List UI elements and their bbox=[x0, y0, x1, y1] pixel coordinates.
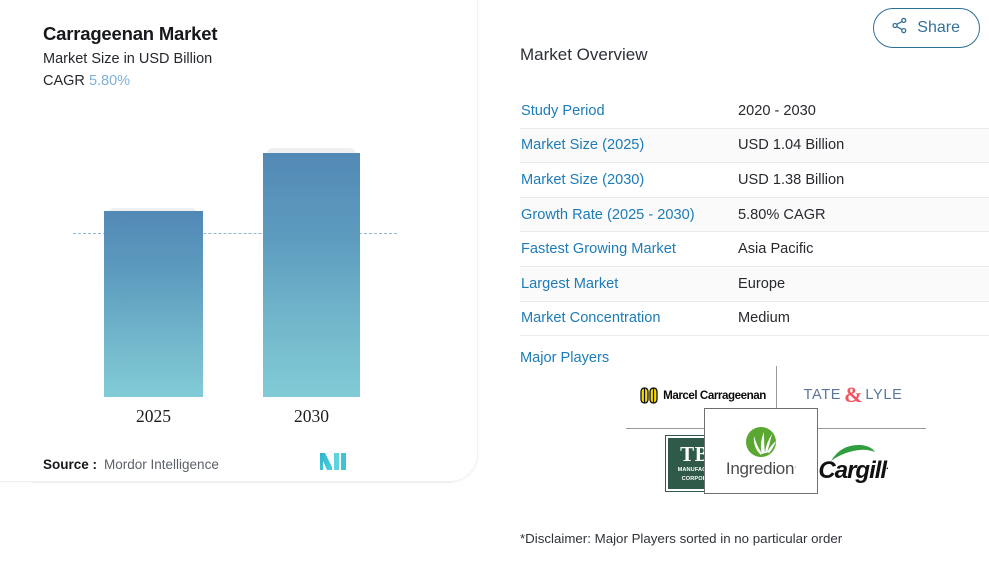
chart-source-row: Source : Mordor Intelligence bbox=[43, 453, 447, 475]
cargill-logo: Cargill. bbox=[818, 443, 887, 483]
market-overview-table: Study Period 2020 - 2030 Market Size (20… bbox=[520, 94, 989, 336]
marcel-shield-icon bbox=[640, 387, 658, 404]
x-axis-label-2030: 2030 bbox=[263, 406, 360, 427]
row-value: 5.80% CAGR bbox=[738, 207, 826, 223]
bar-2030 bbox=[263, 153, 360, 397]
table-row: Market Size (2025) USD 1.04 Billion bbox=[520, 129, 989, 164]
card-divider bbox=[33, 482, 453, 483]
table-row: Largest Market Europe bbox=[520, 267, 989, 302]
chart-cagr: CAGR 5.80% bbox=[43, 73, 130, 89]
source-name: Mordor Intelligence bbox=[104, 457, 219, 472]
row-key: Largest Market bbox=[520, 276, 738, 292]
market-overview-panel: Share Market Overview Study Period 2020 … bbox=[518, 0, 989, 564]
cagr-value: 5.80% bbox=[89, 73, 130, 89]
ingredion-logo: Ingredion. bbox=[726, 424, 796, 479]
lyle-word: LYLE bbox=[865, 387, 902, 403]
player-logo-ingredion: Ingredion. bbox=[704, 408, 818, 494]
row-value: 2020 - 2030 bbox=[738, 103, 816, 119]
major-players-label: Major Players bbox=[520, 350, 609, 366]
row-value: Asia Pacific bbox=[738, 241, 813, 257]
tate-lyle-logo: TATE & LYLE bbox=[804, 384, 903, 406]
marcel-carrageenan-wordmark: Marcel Carrageenan bbox=[663, 389, 766, 402]
table-row: Study Period 2020 - 2030 bbox=[520, 94, 989, 129]
bar-chart-plot: USD 1.04 B USD 1.38 B 2025 2030 bbox=[1, 111, 479, 431]
row-value: USD 1.04 Billion bbox=[738, 137, 844, 153]
tate-word: TATE bbox=[804, 387, 842, 403]
row-key: Market Size (2025) bbox=[520, 137, 738, 153]
cargill-wordmark: Cargill. bbox=[818, 460, 887, 483]
cagr-label: CAGR bbox=[43, 73, 85, 89]
row-value: USD 1.38 Billion bbox=[738, 172, 844, 188]
row-key: Fastest Growing Market bbox=[520, 241, 738, 257]
x-axis-label-2025: 2025 bbox=[104, 406, 203, 427]
ingredion-leaf-icon bbox=[743, 424, 779, 458]
share-nodes-icon bbox=[891, 17, 908, 39]
table-row: Market Concentration Medium bbox=[520, 302, 989, 337]
chart-card: Carrageenan Market Market Size in USD Bi… bbox=[0, 0, 478, 482]
major-players-logo-grid: Marcel Carrageenan TATE & LYLE TBK MANUF… bbox=[626, 366, 926, 494]
row-key: Study Period bbox=[520, 103, 738, 119]
marcel-carrageenan-logo: Marcel Carrageenan bbox=[640, 387, 766, 404]
share-button[interactable]: Share bbox=[873, 8, 980, 48]
share-button-label: Share bbox=[917, 19, 960, 37]
mordor-intelligence-logo bbox=[320, 453, 347, 475]
row-key: Growth Rate (2025 - 2030) bbox=[520, 207, 738, 223]
row-key: Market Size (2030) bbox=[520, 172, 738, 188]
chart-title: Carrageenan Market bbox=[43, 23, 217, 45]
chart-subtitle: Market Size in USD Billion bbox=[43, 51, 212, 67]
table-row: Growth Rate (2025 - 2030) 5.80% CAGR bbox=[520, 198, 989, 233]
market-overview-page: Carrageenan Market Market Size in USD Bi… bbox=[0, 0, 989, 564]
table-row: Market Size (2030) USD 1.38 Billion bbox=[520, 163, 989, 198]
ampersand-icon: & bbox=[844, 384, 862, 406]
bar-2025 bbox=[104, 211, 203, 397]
chart-card-content: Carrageenan Market Market Size in USD Bi… bbox=[1, 1, 479, 483]
table-row: Fastest Growing Market Asia Pacific bbox=[520, 232, 989, 267]
page-title: Market Overview bbox=[520, 45, 648, 65]
source-label: Source : bbox=[43, 457, 97, 472]
row-key: Market Concentration bbox=[520, 310, 738, 326]
row-value: Europe bbox=[738, 276, 785, 292]
ingredion-wordmark: Ingredion. bbox=[726, 459, 796, 479]
disclaimer-text: *Disclaimer: Major Players sorted in no … bbox=[520, 531, 842, 546]
row-value: Medium bbox=[738, 310, 790, 326]
